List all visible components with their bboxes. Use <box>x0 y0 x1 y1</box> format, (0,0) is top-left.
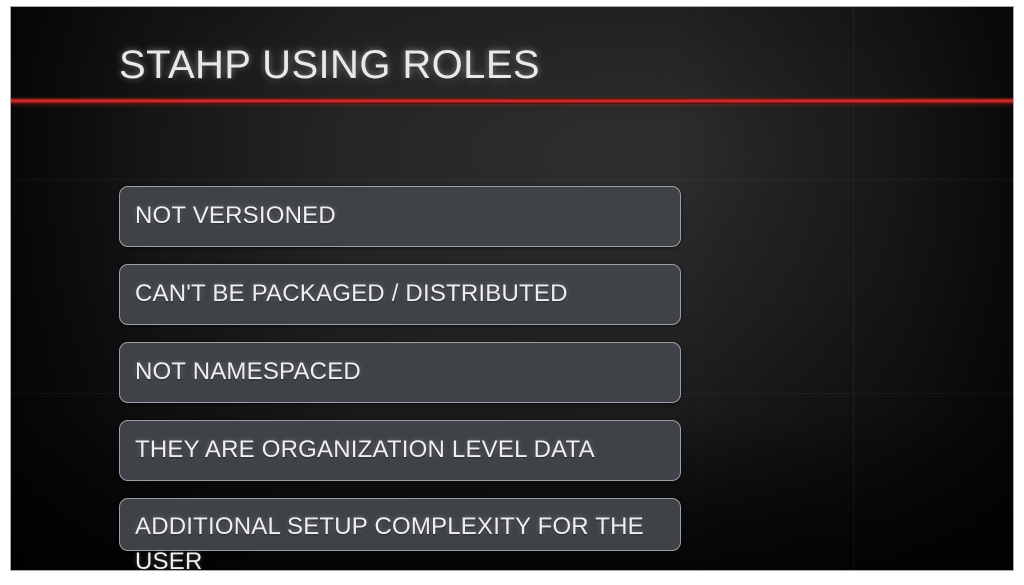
list-item-label: NOT VERSIONED <box>120 187 680 246</box>
list-item-label: ADDITIONAL SETUP COMPLEXITY FOR THE USER <box>120 499 680 571</box>
list-item[interactable]: ADDITIONAL SETUP COMPLEXITY FOR THE USER <box>119 498 681 551</box>
list-item-label: NOT NAMESPACED <box>120 343 680 402</box>
list-item[interactable]: CAN'T BE PACKAGED / DISTRIBUTED <box>119 264 681 325</box>
list-item[interactable]: NOT VERSIONED <box>119 186 681 247</box>
list-item-label: CAN'T BE PACKAGED / DISTRIBUTED <box>120 265 680 324</box>
list-item-label: THEY ARE ORGANIZATION LEVEL DATA <box>120 421 680 480</box>
page-title: STAHP USING ROLES <box>119 43 540 88</box>
slide-frame: STAHP USING ROLES NOT VERSIONED CAN'T BE… <box>10 6 1014 571</box>
title-divider-rule <box>11 98 1013 104</box>
title-area: STAHP USING ROLES <box>11 7 1013 103</box>
background-seam-horizontal-top <box>11 179 1013 180</box>
bullet-list: NOT VERSIONED CAN'T BE PACKAGED / DISTRI… <box>119 186 681 551</box>
list-item[interactable]: NOT NAMESPACED <box>119 342 681 403</box>
list-item[interactable]: THEY ARE ORGANIZATION LEVEL DATA <box>119 420 681 481</box>
